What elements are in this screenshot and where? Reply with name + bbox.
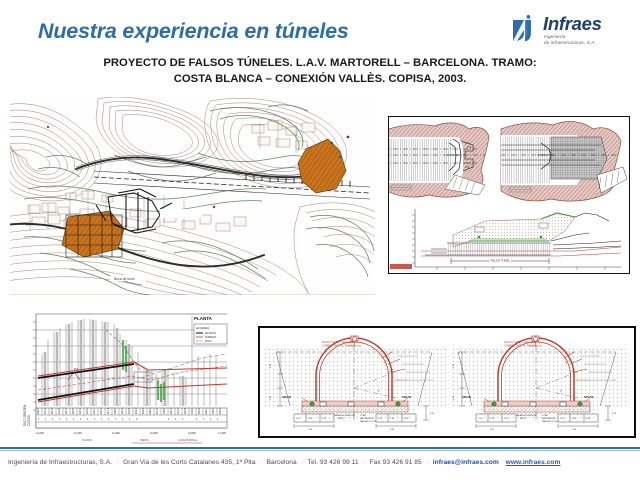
- footer-separator: ·: [424, 459, 431, 466]
- svg-text:RASANTE: RASANTE: [205, 332, 216, 335]
- profile-station-0: 0+000: [36, 431, 44, 435]
- brand-tagline-line2: de infraestructuras, S.A.: [544, 40, 596, 45]
- svg-text:LONGITUDINAL: LONGITUDINAL: [178, 438, 198, 442]
- brand-tagline-line1: Ingeniería: [544, 34, 565, 39]
- drawing-stamp: [390, 264, 412, 269]
- svg-text:134.9: 134.9: [141, 407, 145, 414]
- svg-text:ZAPATA HORMIGON: ZAPATA HORMIGON: [334, 414, 354, 417]
- svg-text:ZAPATA HORMIGON: ZAPATA HORMIGON: [516, 414, 536, 417]
- svg-text:0+400: 0+400: [112, 431, 120, 435]
- footer-separator: ·: [257, 459, 264, 466]
- footer-email-link[interactable]: infraes@infraes.com: [433, 459, 499, 466]
- svg-text:128.9: 128.9: [113, 407, 117, 414]
- slide-subtitle: PROYECTO DE FALSOS TÚNELES. L.A.V. MARTO…: [0, 55, 640, 87]
- infraes-j-mark-icon: [512, 15, 538, 42]
- profile-legend: LEYENDA RASANTE TERRENO ROCA: [194, 324, 227, 344]
- tunnel-sections-svg: FALSO TUNEL Y RELLENO COMPACTADO AL 95% …: [260, 328, 634, 436]
- svg-text:116.1: 116.1: [64, 408, 68, 415]
- plan-drawings-figure[interactable]: FALSO TUNEL: [388, 116, 630, 274]
- svg-text:LOSA: LOSA: [542, 414, 548, 417]
- svg-text:146.7: 146.7: [204, 407, 208, 414]
- svg-text:LOSA: LOSA: [360, 414, 366, 417]
- svg-text:112.6: 112.6: [50, 408, 54, 415]
- subtitle-line-2: COSTA BLANCA – CONEXIÓN VALLÈS. COPISA, …: [0, 71, 640, 87]
- footer-separator: ·: [299, 459, 306, 466]
- svg-text:PERFIL: PERFIL: [140, 438, 150, 442]
- map-label-tunnel-mouth: Boca de túnel: [114, 277, 135, 281]
- brand-tagline: Ingeniería de infraestructuras, S.A.: [544, 34, 630, 46]
- footer-phone: Tel. 93 426 99 11: [308, 459, 359, 466]
- svg-text:145.3: 145.3: [197, 407, 201, 414]
- svg-text:1+000: 1+000: [218, 431, 226, 435]
- slide-header: Nuestra experiencia en túneles Infraes I…: [0, 0, 640, 95]
- section2-label-left: SPL/01: [462, 395, 472, 399]
- svg-text:127.1: 127.1: [106, 407, 110, 414]
- section1-label-left: SPL/01: [282, 395, 292, 399]
- svg-text:110.2: 110.2: [43, 408, 47, 415]
- svg-text:0+600: 0+600: [150, 431, 158, 435]
- topo-map-svg: Boca de túnel: [10, 97, 375, 295]
- longitudinal-profile-svg: P.K. LEYENDA RASANTE TERRENO ROCA PLANTA…: [22, 310, 247, 445]
- footer-divider: [0, 447, 640, 452]
- footer-rule-thin: [0, 450, 640, 451]
- svg-text:120.3: 120.3: [78, 407, 82, 414]
- svg-text:136.2: 136.2: [148, 407, 152, 414]
- footer-website-link[interactable]: www.infraes.com: [506, 459, 561, 466]
- profile-xaxis-label: DIST. ORIGEN: [23, 404, 27, 426]
- svg-text:131.8: 131.8: [127, 407, 131, 414]
- svg-text:0+200: 0+200: [74, 431, 82, 435]
- profile-yaxis-label: COTAS: [27, 415, 31, 426]
- section1-label-right: SPL/02: [402, 395, 412, 399]
- profile-data-table: 108.4 110.2 112.6 114.8 116.1 118.5 120.…: [36, 407, 227, 428]
- brand-logo[interactable]: Infraes Ingeniería de infraestructuras, …: [512, 14, 630, 54]
- svg-text:TERRENO: TERRENO: [205, 337, 216, 339]
- svg-text:MALLAZO 15x15: MALLAZO 15x15: [542, 420, 559, 423]
- brand-name: Infraes: [543, 14, 602, 33]
- svg-text:HA-25/B/20/IIa: HA-25/B/20/IIa: [360, 417, 374, 420]
- profile-dimension-label: FALSO TUNEL: [491, 259, 510, 263]
- footer-fax: Fax 93 426 91 85: [370, 459, 422, 466]
- page-title: Nuestra experiencia en túneles: [38, 19, 349, 44]
- svg-text:114.8: 114.8: [57, 408, 61, 415]
- svg-text:130.2: 130.2: [120, 407, 124, 414]
- svg-text:137.6: 137.6: [155, 407, 159, 414]
- tunnel-sections-figure[interactable]: FALSO TUNEL Y RELLENO COMPACTADO AL 95% …: [258, 326, 636, 438]
- svg-text:HM-20: HM-20: [338, 418, 345, 420]
- section2-label-right: SPL/02: [584, 395, 594, 399]
- svg-text:HM-20: HM-20: [520, 418, 527, 420]
- footer-address: Gran Via de les Corts Catalanes 435, 1ª …: [123, 459, 255, 466]
- svg-text:125.4: 125.4: [99, 407, 103, 414]
- svg-text:140.1: 140.1: [169, 407, 173, 414]
- footer-city: Barcelona: [267, 459, 297, 466]
- svg-text:142.8: 142.8: [183, 407, 187, 414]
- footer-rule-thick: [0, 447, 640, 449]
- svg-text:118.5: 118.5: [71, 408, 75, 415]
- svg-text:138.9: 138.9: [162, 407, 166, 414]
- topographic-map-figure[interactable]: Boca de túnel: [10, 97, 375, 295]
- svg-text:122.0: 122.0: [85, 407, 89, 414]
- svg-text:141.4: 141.4: [176, 407, 180, 414]
- svg-text:108.4: 108.4: [36, 407, 40, 414]
- plan-drawings-svg: FALSO TUNEL: [389, 117, 628, 272]
- profile-inline-note: P.K.: [74, 367, 79, 371]
- svg-text:149.2: 149.2: [218, 407, 222, 414]
- footer-separator: ·: [360, 459, 367, 466]
- svg-text:0+800: 0+800: [188, 431, 196, 435]
- footer-contact-bar: Ingeniería de Infraestructuras, S.A. · G…: [8, 459, 636, 466]
- svg-text:MALLAZO 15x15: MALLAZO 15x15: [360, 420, 377, 423]
- plan-view-right: [501, 122, 627, 202]
- footer-company: Ingeniería de Infraestructuras, S.A.: [8, 459, 112, 466]
- excavation-area-west: [62, 211, 124, 257]
- longitudinal-profile-figure[interactable]: P.K. LEYENDA RASANTE TERRENO ROCA PLANTA…: [22, 310, 247, 445]
- svg-text:PLANTA: PLANTA: [82, 438, 92, 442]
- plan-view-left: [389, 123, 489, 197]
- profile-legend-title: LEYENDA: [196, 326, 209, 330]
- svg-text:144.0: 144.0: [190, 407, 194, 414]
- svg-text:HA-25/B/20/IIa: HA-25/B/20/IIa: [542, 417, 556, 420]
- svg-text:123.7: 123.7: [92, 407, 96, 414]
- subtitle-line-1: PROYECTO DE FALSOS TÚNELES. L.A.V. MARTO…: [0, 55, 640, 71]
- footer-separator: ·: [114, 459, 121, 466]
- svg-text:ROCA: ROCA: [205, 340, 212, 343]
- profile-heading: PLANTA: [194, 316, 213, 321]
- svg-text:148.0: 148.0: [211, 407, 215, 414]
- svg-text:133.4: 133.4: [134, 407, 138, 414]
